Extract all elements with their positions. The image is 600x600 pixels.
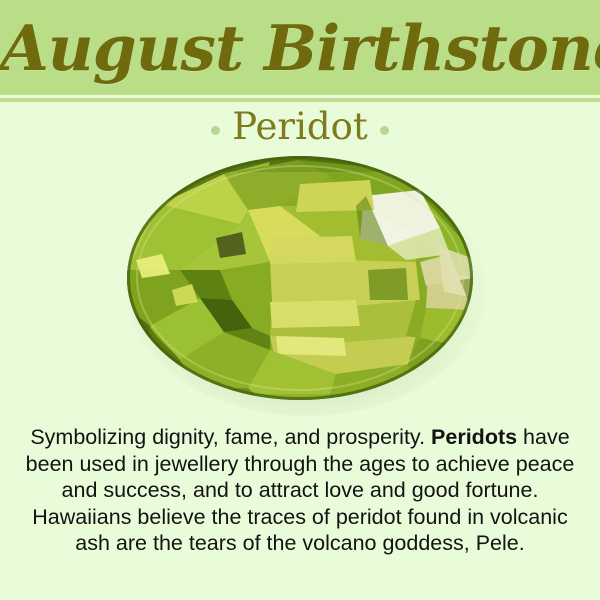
subtitle-text: Peridot [232,105,367,149]
page-title: August Birthstone [0,2,600,94]
description-line-6: the tears of the volcano goddess, Pele. [153,531,525,555]
divider-green-stripe [0,98,600,102]
description-line-1: Symbolizing dignity, fame, and prosperit… [30,425,425,449]
august-birthstone-card: August Birthstone Peridot [0,0,600,600]
gemstone-svg [120,150,490,418]
description-text: Symbolizing dignity, fame, and prosperit… [18,424,582,557]
gem-facets [120,150,490,418]
subtitle-row: Peridot [0,104,600,150]
peridot-gemstone-image [120,150,490,418]
description-bold-word: Peridots [431,425,517,449]
bullet-dot-icon-right [380,126,389,135]
bullet-dot-icon-left [211,126,220,135]
header-band: August Birthstone [0,0,600,95]
